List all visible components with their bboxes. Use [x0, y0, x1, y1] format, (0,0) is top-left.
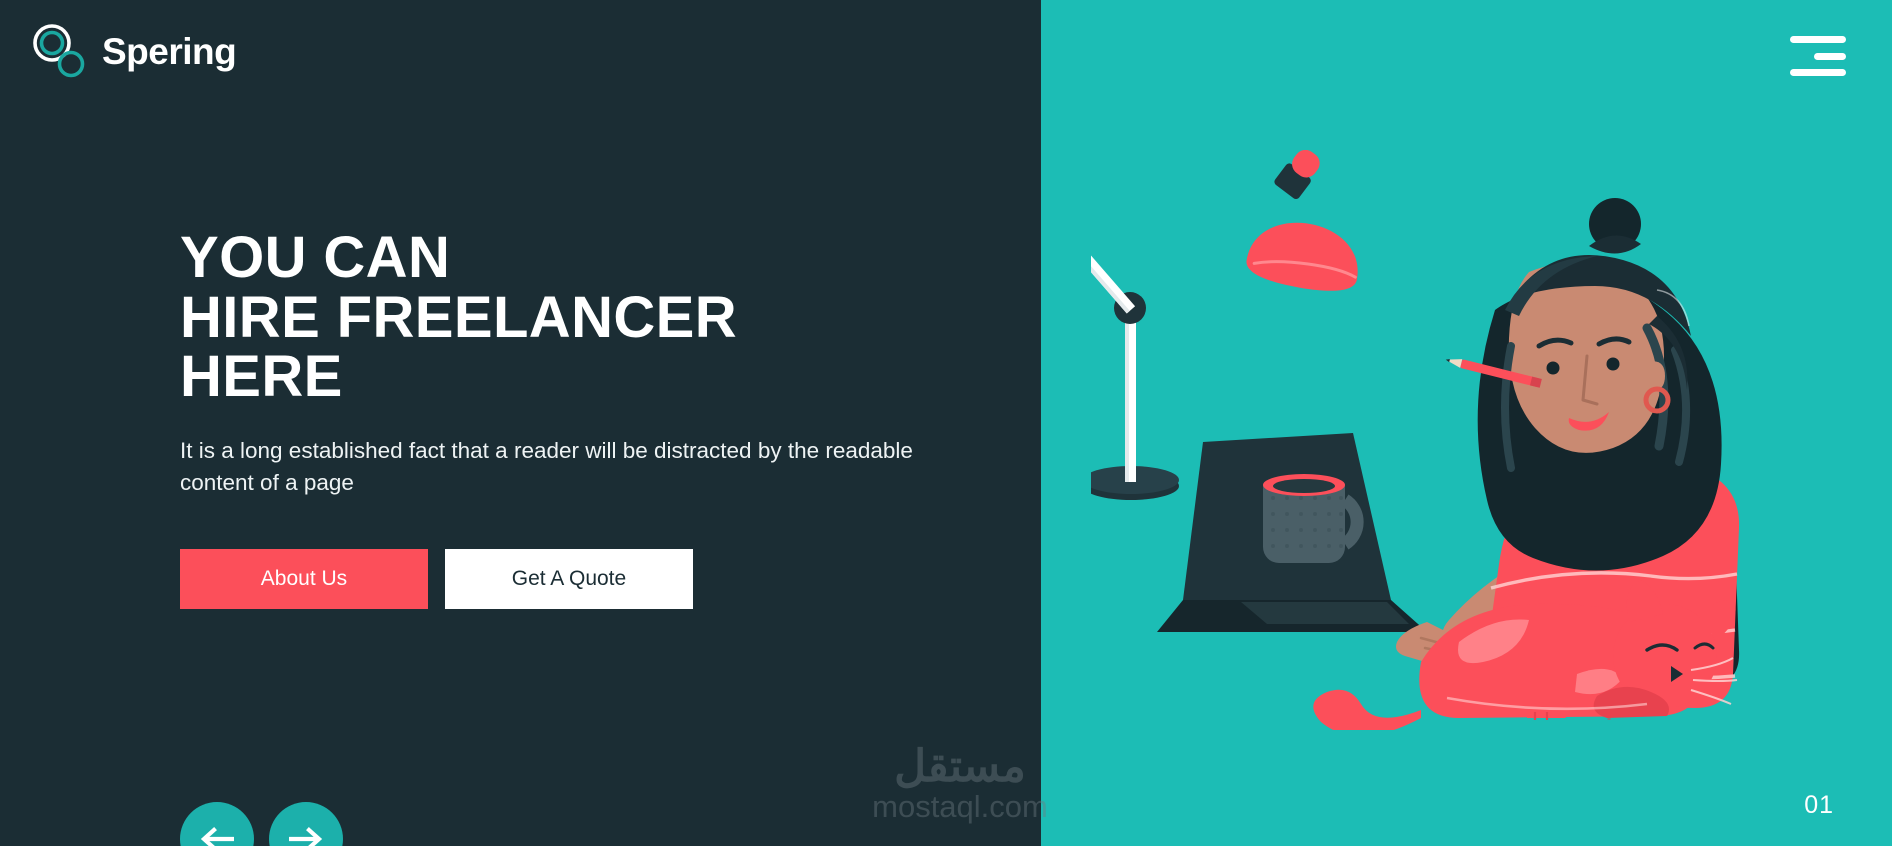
- hamburger-menu-icon[interactable]: [1790, 36, 1846, 76]
- hero-right-panel: 01: [1041, 0, 1892, 846]
- brand-logo[interactable]: Spering: [30, 16, 236, 86]
- headline-line-2: HIRE FREELANCER: [180, 288, 980, 348]
- about-us-button[interactable]: About Us: [180, 549, 428, 609]
- headline-line-3: HERE: [180, 347, 980, 407]
- hamburger-bar-bottom: [1790, 69, 1846, 76]
- hero-left-panel: Spering YOU CAN HIRE FREELANCER HERE It …: [0, 0, 1041, 846]
- slider-navigation: [180, 802, 343, 846]
- slide-number: 01: [1804, 791, 1834, 820]
- hamburger-bar-middle: [1814, 53, 1846, 60]
- page-title: YOU CAN HIRE FREELANCER HERE: [180, 228, 980, 407]
- slider-prev-button[interactable]: [180, 802, 254, 846]
- arrow-left-icon: [200, 826, 234, 846]
- brand-name: Spering: [102, 33, 236, 70]
- double-circle-logo-icon: [30, 22, 88, 80]
- hero-content: YOU CAN HIRE FREELANCER HERE It is a lon…: [180, 228, 980, 609]
- freelancer-working-illustration: [1091, 150, 1891, 730]
- cta-button-group: About Us Get A Quote: [180, 549, 980, 609]
- hero-subtext: It is a long established fact that a rea…: [180, 435, 940, 499]
- hamburger-bar-top: [1790, 36, 1846, 43]
- hero-section: Spering YOU CAN HIRE FREELANCER HERE It …: [0, 0, 1892, 846]
- arrow-right-icon: [289, 826, 323, 846]
- slider-next-button[interactable]: [269, 802, 343, 846]
- headline-line-1: YOU CAN: [180, 228, 980, 288]
- get-a-quote-button[interactable]: Get A Quote: [445, 549, 693, 609]
